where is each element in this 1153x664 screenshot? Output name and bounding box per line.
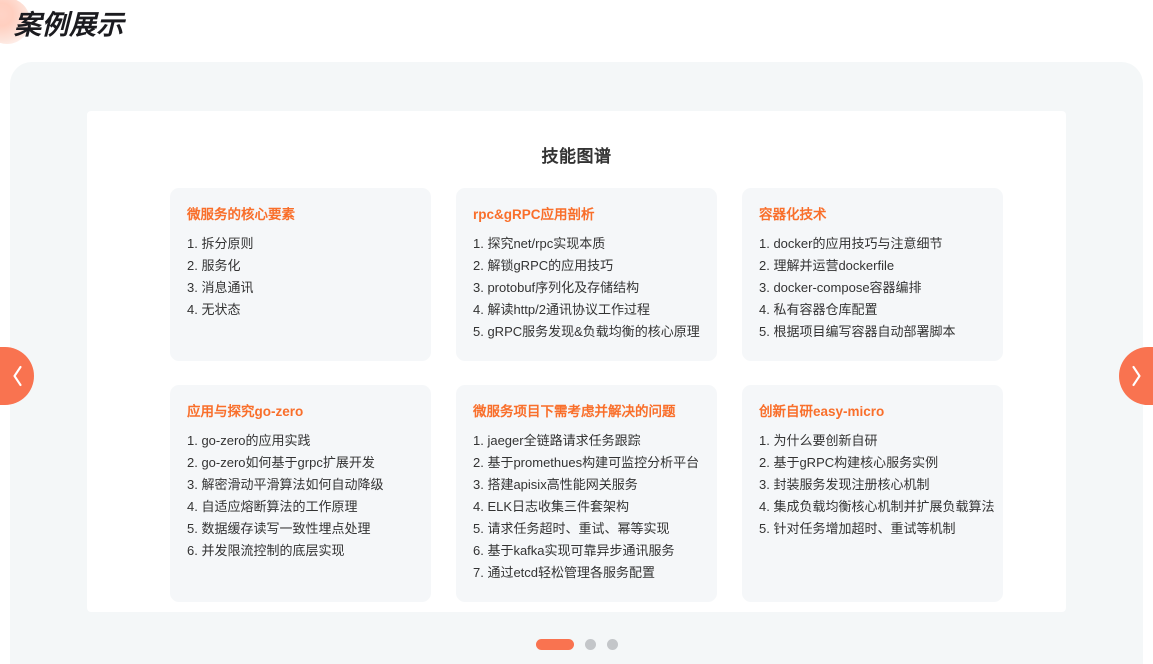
list-item: 4. 无状态 [187, 299, 414, 321]
list-item: 1. go-zero的应用实践 [187, 430, 414, 452]
topic-list: 1. 探究net/rpc实现本质 2. 解锁gRPC的应用技巧 3. proto… [473, 233, 700, 343]
list-item: 2. 基于gRPC构建核心服务实例 [759, 452, 986, 474]
list-item: 6. 并发限流控制的底层实现 [187, 540, 414, 562]
topic-list: 1. jaeger全链路请求任务跟踪 2. 基于promethues构建可监控分… [473, 430, 700, 584]
list-item: 1. 拆分原则 [187, 233, 414, 255]
list-item: 3. 消息通讯 [187, 277, 414, 299]
list-item: 5. 根据项目编写容器自动部署脚本 [759, 321, 986, 343]
list-item: 3. 解密滑动平滑算法如何自动降级 [187, 474, 414, 496]
list-item: 5. gRPC服务发现&负载均衡的核心原理 [473, 321, 700, 343]
pagination-dot-1[interactable] [536, 639, 574, 650]
list-item: 4. 自适应熔断算法的工作原理 [187, 496, 414, 518]
chevron-right-icon [1130, 365, 1143, 387]
topic-card[interactable]: 微服务的核心要素 1. 拆分原则 2. 服务化 3. 消息通讯 4. 无状态 [170, 188, 431, 361]
list-item: 2. 基于promethues构建可监控分析平台 [473, 452, 700, 474]
topic-card-title: 创新自研easy-micro [759, 402, 986, 421]
topic-card-title: 容器化技术 [759, 205, 986, 224]
list-item: 1. jaeger全链路请求任务跟踪 [473, 430, 700, 452]
list-item: 5. 请求任务超时、重试、幂等实现 [473, 518, 700, 540]
list-item: 4. ELK日志收集三件套架构 [473, 496, 700, 518]
carousel-panel: 技能图谱 微服务的核心要素 1. 拆分原则 2. 服务化 3. 消息通讯 4. … [10, 62, 1143, 664]
list-item: 4. 解读http/2通讯协议工作过程 [473, 299, 700, 321]
page-header: 案例展示 [0, 0, 1153, 62]
list-item: 1. 探究net/rpc实现本质 [473, 233, 700, 255]
topic-card-title: 微服务的核心要素 [187, 205, 414, 224]
topic-card[interactable]: 微服务项目下需考虑并解决的问题 1. jaeger全链路请求任务跟踪 2. 基于… [456, 385, 717, 602]
topic-card[interactable]: 应用与探究go-zero 1. go-zero的应用实践 2. go-zero如… [170, 385, 431, 602]
list-item: 3. 封装服务发现注册核心机制 [759, 474, 986, 496]
list-item: 5. 针对任务增加超时、重试等机制 [759, 518, 986, 540]
topic-card-grid: 微服务的核心要素 1. 拆分原则 2. 服务化 3. 消息通讯 4. 无状态 r… [170, 188, 1003, 602]
list-item: 3. 搭建apisix高性能网关服务 [473, 474, 700, 496]
topic-card-title: 微服务项目下需考虑并解决的问题 [473, 402, 700, 421]
page-title: 案例展示 [14, 8, 124, 42]
list-item: 3. protobuf序列化及存储结构 [473, 277, 700, 299]
list-item: 4. 私有容器仓库配置 [759, 299, 986, 321]
list-item: 7. 通过etcd轻松管理各服务配置 [473, 562, 700, 584]
pagination-dot-3[interactable] [607, 639, 618, 650]
pagination-dot-2[interactable] [585, 639, 596, 650]
list-item: 6. 基于kafka实现可靠异步通讯服务 [473, 540, 700, 562]
topic-card-title: rpc&gRPC应用剖析 [473, 205, 700, 224]
chevron-left-icon [11, 365, 24, 387]
topic-card-title: 应用与探究go-zero [187, 402, 414, 421]
topic-card[interactable]: rpc&gRPC应用剖析 1. 探究net/rpc实现本质 2. 解锁gRPC的… [456, 188, 717, 361]
topic-card[interactable]: 创新自研easy-micro 1. 为什么要创新自研 2. 基于gRPC构建核心… [742, 385, 1003, 602]
carousel-pagination [0, 639, 1153, 650]
list-item: 2. go-zero如何基于grpc扩展开发 [187, 452, 414, 474]
list-item: 2. 解锁gRPC的应用技巧 [473, 255, 700, 277]
topic-list: 1. 为什么要创新自研 2. 基于gRPC构建核心服务实例 3. 封装服务发现注… [759, 430, 986, 540]
list-item: 5. 数据缓存读写一致性埋点处理 [187, 518, 414, 540]
topic-list: 1. go-zero的应用实践 2. go-zero如何基于grpc扩展开发 3… [187, 430, 414, 562]
topic-list: 1. docker的应用技巧与注意细节 2. 理解并运营dockerfile 3… [759, 233, 986, 343]
list-item: 2. 理解并运营dockerfile [759, 255, 986, 277]
list-item: 1. docker的应用技巧与注意细节 [759, 233, 986, 255]
list-item: 2. 服务化 [187, 255, 414, 277]
slide-card: 技能图谱 微服务的核心要素 1. 拆分原则 2. 服务化 3. 消息通讯 4. … [87, 111, 1066, 612]
list-item: 3. docker-compose容器编排 [759, 277, 986, 299]
topic-list: 1. 拆分原则 2. 服务化 3. 消息通讯 4. 无状态 [187, 233, 414, 321]
topic-card[interactable]: 容器化技术 1. docker的应用技巧与注意细节 2. 理解并运营docker… [742, 188, 1003, 361]
section-title: 技能图谱 [87, 142, 1066, 167]
list-item: 1. 为什么要创新自研 [759, 430, 986, 452]
list-item: 4. 集成负载均衡核心机制并扩展负载算法 [759, 496, 986, 518]
